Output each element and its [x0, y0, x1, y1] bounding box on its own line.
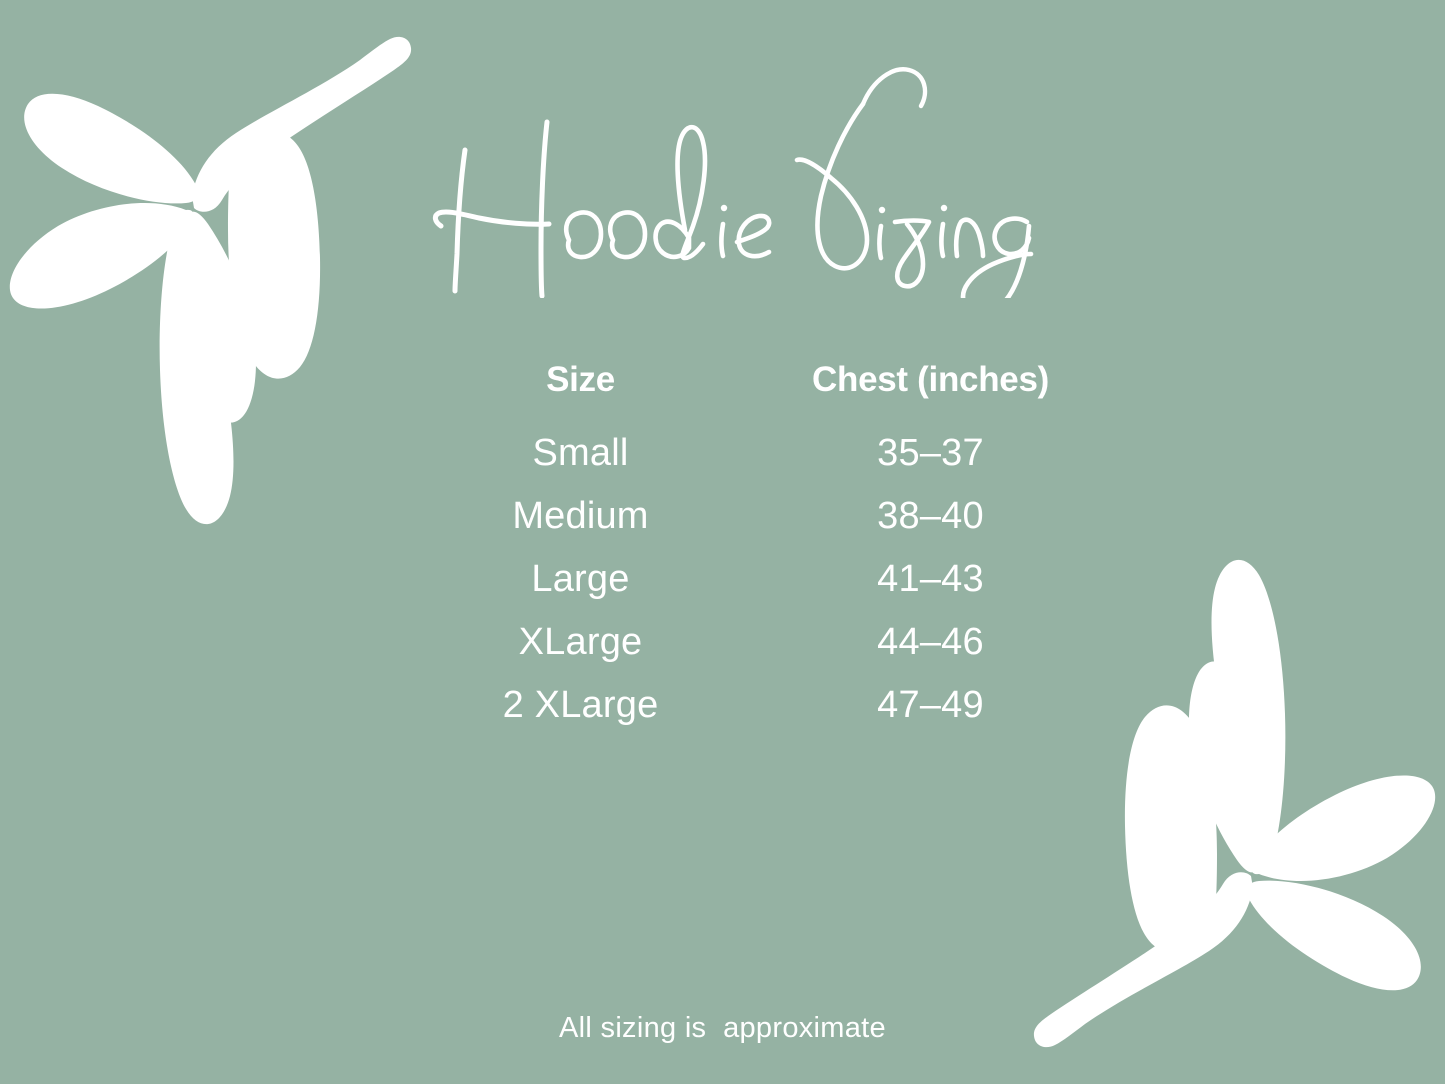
- cell-size: Small: [433, 432, 728, 475]
- cell-chest: 47–49: [728, 684, 1133, 727]
- cell-chest: 44–46: [728, 621, 1133, 664]
- table-row: Medium 38–40: [433, 495, 1133, 558]
- cell-size: Large: [433, 558, 728, 601]
- column-header-size: Size: [433, 360, 728, 400]
- cell-size: XLarge: [433, 621, 728, 664]
- cell-size: 2 XLarge: [433, 684, 728, 727]
- size-chart-table: Size Chest (inches) Small 35–37 Medium 3…: [433, 360, 1133, 747]
- cell-chest: 41–43: [728, 558, 1133, 601]
- cell-chest: 38–40: [728, 495, 1133, 538]
- table-row: 2 XLarge 47–49: [433, 684, 1133, 747]
- cell-size: Medium: [433, 495, 728, 538]
- sizing-chart-canvas: Hoodie Sizing: [0, 0, 1445, 1084]
- table-row: Large 41–43: [433, 558, 1133, 621]
- page-title: Hoodie Sizing: [0, 58, 1445, 303]
- column-header-chest: Chest (inches): [728, 360, 1133, 400]
- table-row: XLarge 44–46: [433, 621, 1133, 684]
- approximate-sizing-note: All sizing is approximate: [0, 1012, 1445, 1045]
- page-title-lettering: Hoodie Sizing: [431, 58, 1051, 298]
- table-row: Small 35–37: [433, 432, 1133, 495]
- table-header-row: Size Chest (inches): [433, 360, 1133, 432]
- cell-chest: 35–37: [728, 432, 1133, 475]
